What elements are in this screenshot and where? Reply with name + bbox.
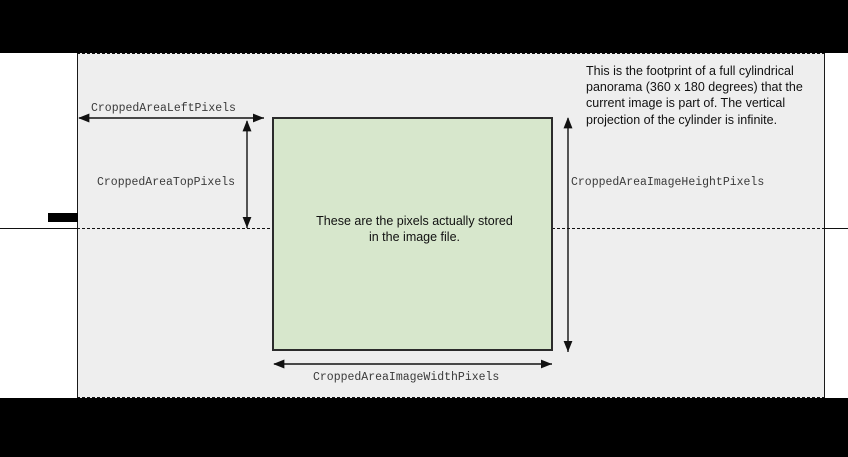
letterbox-band-bottom: [0, 398, 848, 457]
equator-solid-line-left: [0, 228, 78, 229]
diagram-canvas: These are the pixels actually stored in …: [0, 0, 848, 457]
footprint-left-edge: [77, 53, 78, 398]
label-cropped-area-image-height-pixels: CroppedAreaImageHeightPixels: [571, 176, 764, 189]
panorama-description-text: This is the footprint of a full cylindri…: [586, 63, 830, 128]
equator-solid-line-right: [824, 228, 848, 229]
label-cropped-area-left-pixels: CroppedAreaLeftPixels: [91, 102, 236, 115]
stored-pixels-rectangle: These are the pixels actually stored in …: [272, 117, 553, 351]
footprint-top-edge: [77, 53, 825, 54]
equator-left-marker: [48, 213, 78, 222]
label-cropped-area-top-pixels: CroppedAreaTopPixels: [97, 176, 235, 189]
letterbox-band-top: [0, 0, 848, 53]
label-cropped-area-image-width-pixels: CroppedAreaImageWidthPixels: [313, 371, 499, 384]
footprint-bottom-edge: [77, 397, 825, 398]
stored-pixels-caption: These are the pixels actually stored in …: [274, 213, 555, 245]
